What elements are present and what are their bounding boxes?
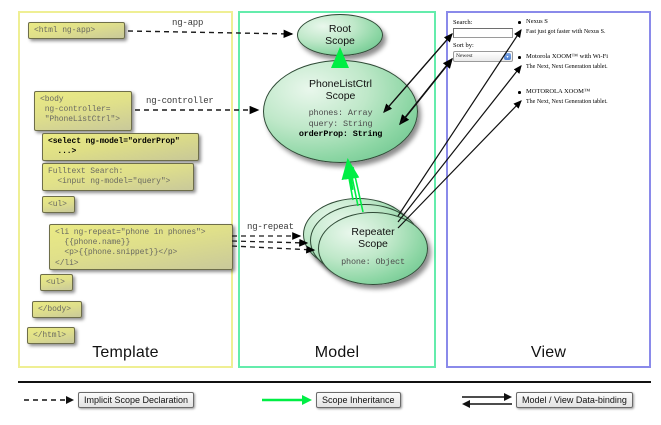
code-box-fulltext-search: Fulltext Search: <input ng-model="query"… — [42, 163, 194, 191]
bullet-icon — [518, 91, 521, 94]
phone-name: MOTOROLA XOOM™ — [526, 88, 590, 95]
bullet-icon — [518, 21, 521, 24]
sort-by-selected-value: Newest — [456, 53, 473, 59]
phone-name: Nexus S — [526, 18, 548, 25]
phonelistctrl-scope-properties: phones: Array query: String orderProp: S… — [264, 108, 417, 140]
repeater-scope-node: Repeater Scope phone: Object — [318, 212, 428, 285]
sort-by-label: Sort by: — [453, 42, 474, 49]
scope-property-phone: phone: Object — [319, 257, 427, 268]
code-box-body-controller: <body ng-controller= "PhoneListCtrl"> — [34, 91, 132, 131]
phone-snippet: The Next, Next Generation tablet. — [526, 99, 608, 105]
bullet-icon — [518, 56, 521, 59]
repeater-scope-title-line2: Scope — [358, 238, 388, 250]
connector-label-ng-repeat: ng-repeat — [247, 222, 294, 232]
legend-divider — [18, 381, 651, 383]
search-label: Search: — [453, 19, 473, 26]
search-input[interactable] — [453, 28, 513, 38]
phone-snippet: The Next, Next Generation tablet. — [526, 64, 608, 70]
sort-by-select[interactable]: Newest ▾ — [453, 51, 513, 62]
code-box-select-orderprop: <select ng-model="orderProp" ...> — [42, 133, 199, 161]
view-column-label: View — [448, 344, 649, 362]
repeater-scope-title-line1: Repeater — [351, 226, 394, 238]
repeater-scope-properties: phone: Object — [319, 257, 427, 268]
code-box-ul-open: <ul> — [42, 196, 75, 213]
phone-name: Motorola XOOM™ with Wi-Fi — [526, 53, 608, 60]
root-scope-title-line2: Scope — [325, 35, 355, 47]
legend-label: Scope Inheritance — [316, 392, 401, 408]
root-scope-title: Root Scope — [298, 15, 382, 47]
connector-label-ng-controller: ng-controller — [146, 96, 214, 106]
scope-property-query: query: String — [264, 119, 417, 130]
template-column-label: Template — [20, 344, 231, 362]
chevron-updown-icon: ▾ — [504, 53, 511, 60]
double-arrow-icon — [460, 392, 512, 408]
code-box-li-ng-repeat: <li ng-repeat="phone in phones"> {{phone… — [49, 224, 233, 270]
root-scope-node: Root Scope — [297, 14, 383, 56]
model-column-label: Model — [240, 344, 434, 362]
root-scope-title-line1: Root — [329, 23, 351, 35]
phonelistctrl-scope-node: PhoneListCtrl Scope phones: Array query:… — [263, 60, 418, 163]
code-box-body-close: </body> — [32, 301, 82, 318]
phonelistctrl-scope-title: PhoneListCtrl Scope — [264, 61, 417, 102]
repeater-scope-title: Repeater Scope — [319, 213, 427, 250]
connector-label-ng-app: ng-app — [172, 18, 203, 28]
diagram-canvas: Template Model View <html ng-app> <body … — [0, 0, 661, 425]
dashed-arrow-icon — [22, 392, 74, 408]
code-box-html-open: <html ng-app> — [28, 22, 125, 39]
scope-property-orderprop: orderProp: String — [299, 129, 382, 139]
code-box-ul-close: <ul> — [40, 274, 73, 291]
phonelistctrl-scope-title-line2: Scope — [326, 90, 356, 102]
code-box-html-close: </html> — [27, 327, 75, 344]
phone-snippet: Fast just got faster with Nexus S. — [526, 29, 606, 35]
scope-property-phones: phones: Array — [264, 108, 417, 119]
phonelistctrl-scope-title-line1: PhoneListCtrl — [309, 78, 372, 90]
green-arrow-icon — [260, 392, 312, 408]
legend-label: Implicit Scope Declaration — [78, 392, 194, 408]
legend-label: Model / View Data-binding — [516, 392, 633, 408]
